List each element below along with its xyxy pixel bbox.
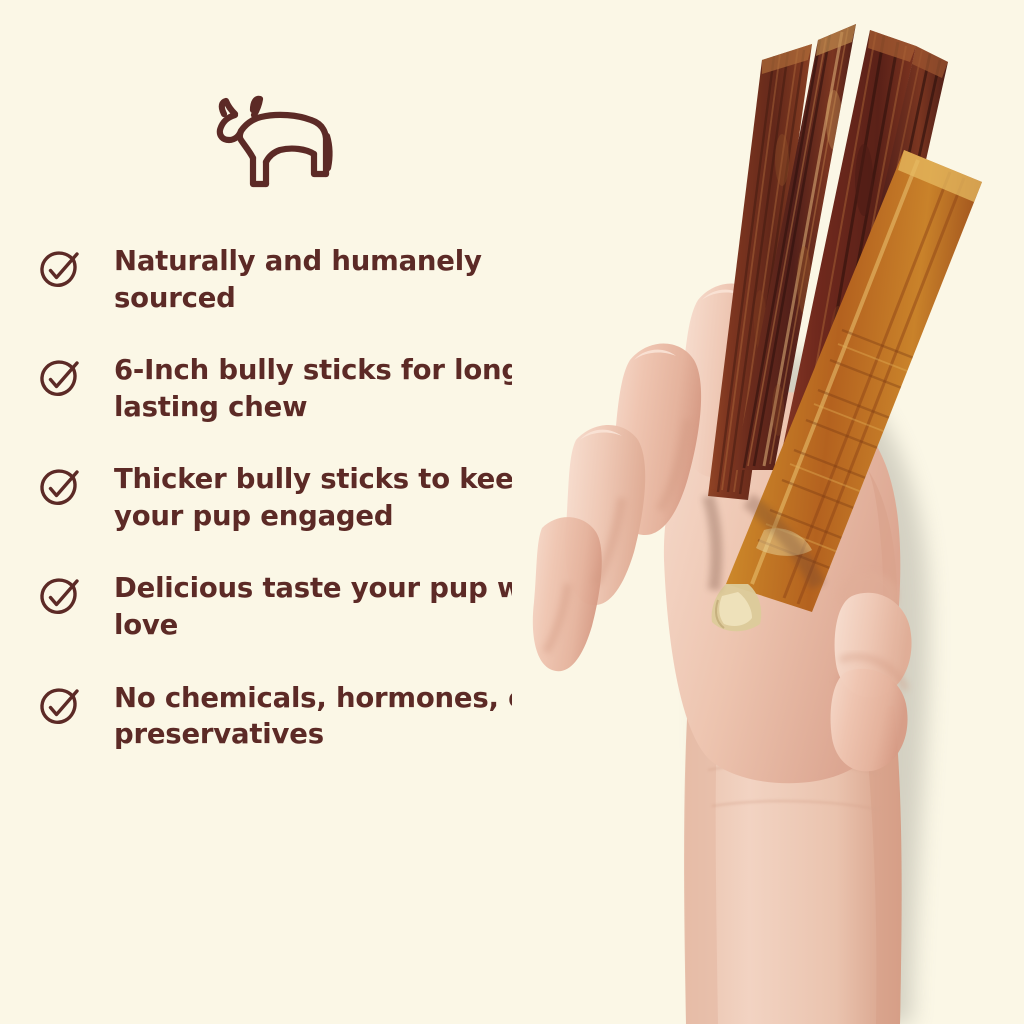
list-item: Delicious taste your pup will love <box>36 570 566 643</box>
list-item: Thicker bully sticks to keep your pup en… <box>36 461 566 534</box>
list-item-label: 6-Inch bully sticks for long-lasting che… <box>114 352 566 425</box>
check-circle-icon <box>36 465 84 513</box>
list-item: Naturally and humanely sourced <box>36 243 566 316</box>
list-item: 6-Inch bully sticks for long-lasting che… <box>36 352 566 425</box>
check-circle-icon <box>36 356 84 404</box>
check-circle-icon <box>36 247 84 295</box>
promo-graphic: Naturally and humanely sourced 6-Inch bu… <box>0 0 1024 1024</box>
cow-icon <box>206 92 338 194</box>
hand-holding-bully-sticks-photo <box>512 0 1024 1024</box>
list-item: No chemicals, hormones, or preservatives <box>36 680 566 753</box>
list-item-label: Delicious taste your pup will love <box>114 570 566 643</box>
check-circle-icon <box>36 684 84 732</box>
list-item-label: Naturally and humanely sourced <box>114 243 566 316</box>
list-item-label: Thicker bully sticks to keep your pup en… <box>114 461 566 534</box>
list-item-label: No chemicals, hormones, or preservatives <box>114 680 566 753</box>
benefits-list: Naturally and humanely sourced 6-Inch bu… <box>36 243 566 753</box>
check-circle-icon <box>36 574 84 622</box>
